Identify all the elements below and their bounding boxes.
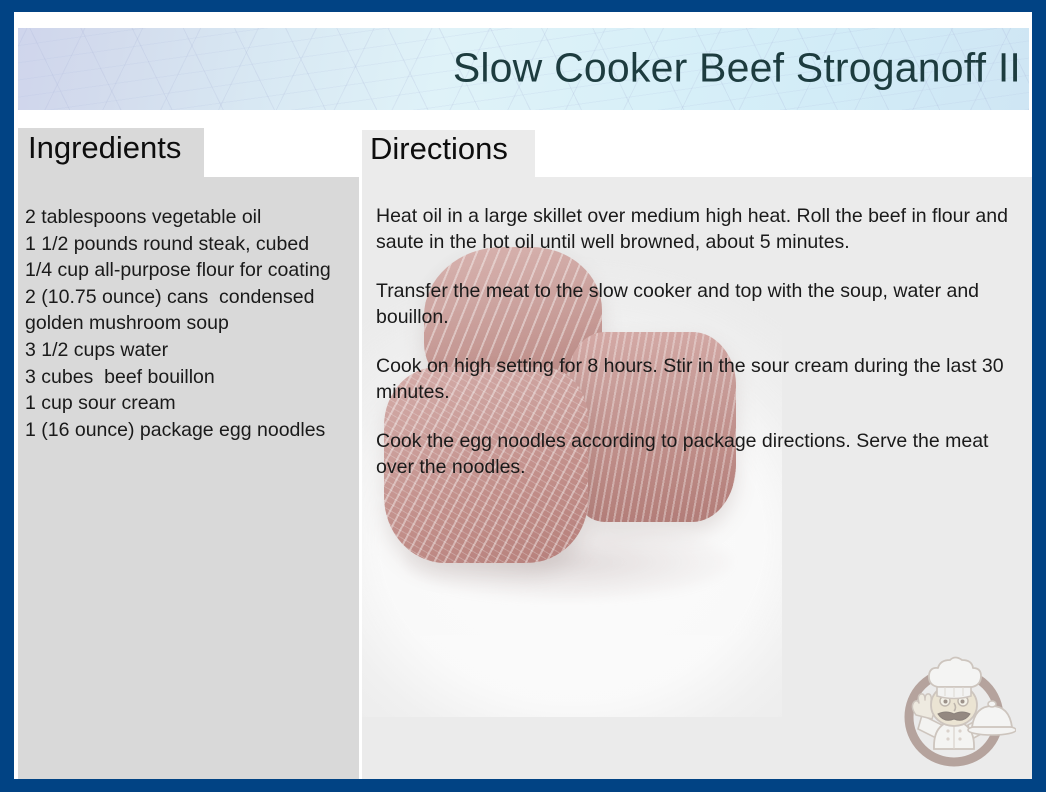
page-title: Slow Cooker Beef Stroganoff II [453,45,1021,92]
list-item: 2 tablespoons vegetable oil [25,204,359,231]
chef-mascot-logo [892,653,1016,771]
list-item: 2 (10.75 ounce) cans condensed golden mu… [25,284,359,337]
list-item: 1 1/2 pounds round steak, cubed [25,231,359,258]
recipe-slide: Slow Cooker Beef Stroganoff II Ingredien… [0,0,1046,792]
title-banner: Slow Cooker Beef Stroganoff II [18,28,1029,110]
directions-text: Heat oil in a large skillet over medium … [376,204,1020,480]
ingredients-list: 2 tablespoons vegetable oil 1 1/2 pounds… [25,204,359,443]
direction-step: Transfer the meat to the slow cooker and… [376,279,1020,330]
list-item: 1/4 cup all-purpose flour for coating [25,257,359,284]
direction-step: Heat oil in a large skillet over medium … [376,204,1020,255]
list-item: 1 (16 ounce) package egg noodles [25,417,359,444]
direction-step: Cook the egg noodles according to packag… [376,429,1020,480]
directions-heading-label: Directions [370,131,508,167]
direction-step: Cook on high setting for 8 hours. Stir i… [376,354,1020,405]
ingredients-heading-label: Ingredients [28,130,181,166]
list-item: 3 cubes beef bouillon [25,364,359,391]
ingredients-panel: 2 tablespoons vegetable oil 1 1/2 pounds… [18,177,359,779]
ingredients-heading-tab: Ingredients [18,128,204,180]
list-item: 1 cup sour cream [25,390,359,417]
directions-heading-tab: Directions [362,130,535,180]
slide-content-area: Slow Cooker Beef Stroganoff II Ingredien… [14,12,1032,779]
list-item: 3 1/2 cups water [25,337,359,364]
